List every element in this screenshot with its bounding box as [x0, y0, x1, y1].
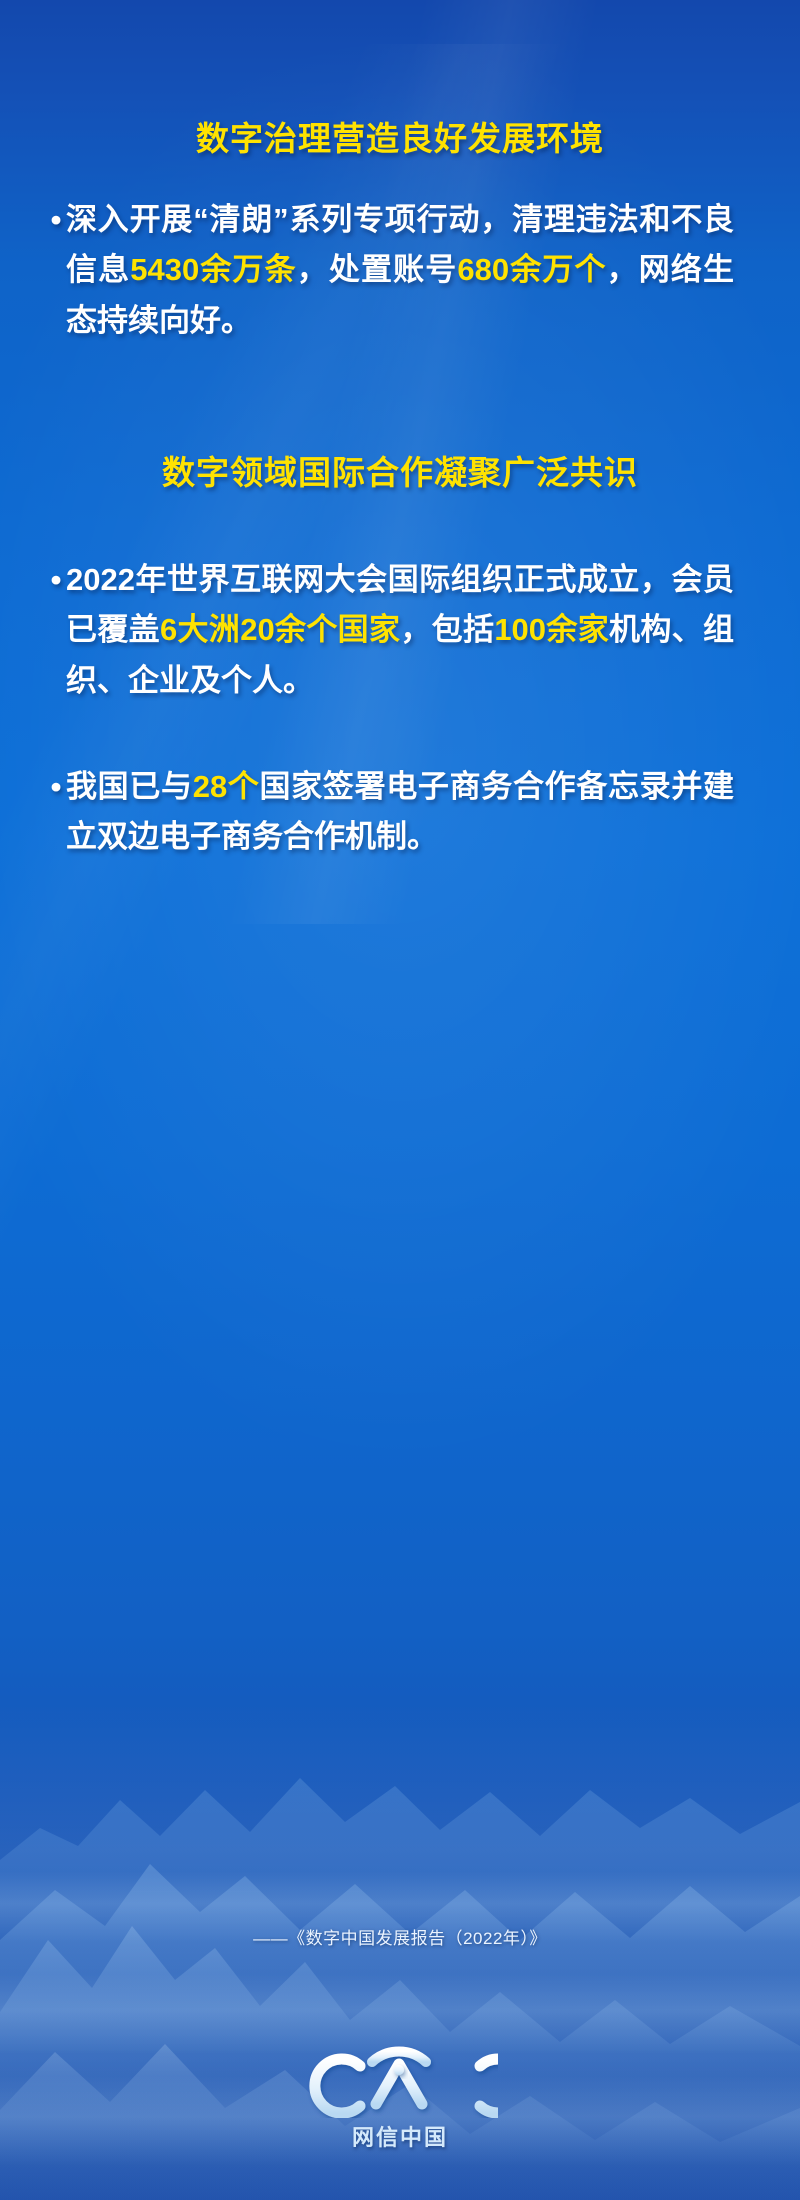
bullet-run: ，处置账号: [297, 252, 458, 287]
bullet-run-highlight: 6大洲20余个国家: [160, 612, 400, 647]
section-title-international-cooperation: 数字领域国际合作凝聚广泛共识: [46, 452, 754, 493]
bullet-text: 我国已与28个国家签署电子商务合作备忘录并建立双边电子商务合作机制。: [66, 762, 734, 862]
bullet-marker-icon: •: [46, 195, 66, 245]
bullet-item: • 深入开展“清朗”系列专项行动，清理违法和不良信息5430余万条，处置账号68…: [46, 195, 754, 346]
bullet-run-highlight: 28个: [193, 769, 260, 804]
poster-content: 数字治理营造良好发展环境 • 深入开展“清朗”系列专项行动，清理违法和不良信息5…: [0, 0, 800, 862]
poster-root: 数字治理营造良好发展环境 • 深入开展“清朗”系列专项行动，清理违法和不良信息5…: [0, 0, 800, 2200]
bullet-marker-icon: •: [46, 555, 66, 605]
bullet-text: 2022年世界互联网大会国际组织正式成立，会员已覆盖6大洲20余个国家，包括10…: [66, 555, 734, 706]
bullet-marker-icon: •: [46, 762, 66, 812]
bullet-text: 深入开展“清朗”系列专项行动，清理违法和不良信息5430余万条，处置账号680余…: [66, 195, 734, 346]
brand-logo: 网信中国: [0, 2040, 800, 2152]
section-title-digital-governance: 数字治理营造良好发展环境: [46, 118, 754, 159]
section-international-cooperation: 数字领域国际合作凝聚广泛共识 • 2022年世界互联网大会国际组织正式成立，会员…: [0, 452, 800, 862]
source-attribution: ——《数字中国发展报告（2022年）》: [0, 1924, 800, 1949]
bullet-run: 我国已与: [66, 769, 193, 804]
bullet-run-highlight: 5430余万条: [130, 252, 296, 287]
section-digital-governance: 数字治理营造良好发展环境 • 深入开展“清朗”系列专项行动，清理违法和不良信息5…: [0, 118, 800, 346]
section-spacer: [0, 346, 800, 452]
bullet-run-highlight: 680余万个: [457, 252, 606, 287]
brand-logo-subtitle: 网信中国: [352, 2120, 448, 2152]
bullet-item: • 2022年世界互联网大会国际组织正式成立，会员已覆盖6大洲20余个国家，包括…: [46, 555, 754, 706]
bullet-run: ，包括: [400, 612, 494, 647]
bullet-run-highlight: 100余家: [494, 612, 609, 647]
bullet-item: • 我国已与28个国家签署电子商务合作备忘录并建立双边电子商务合作机制。: [46, 762, 754, 862]
cac-logo-icon: [302, 2040, 498, 2118]
